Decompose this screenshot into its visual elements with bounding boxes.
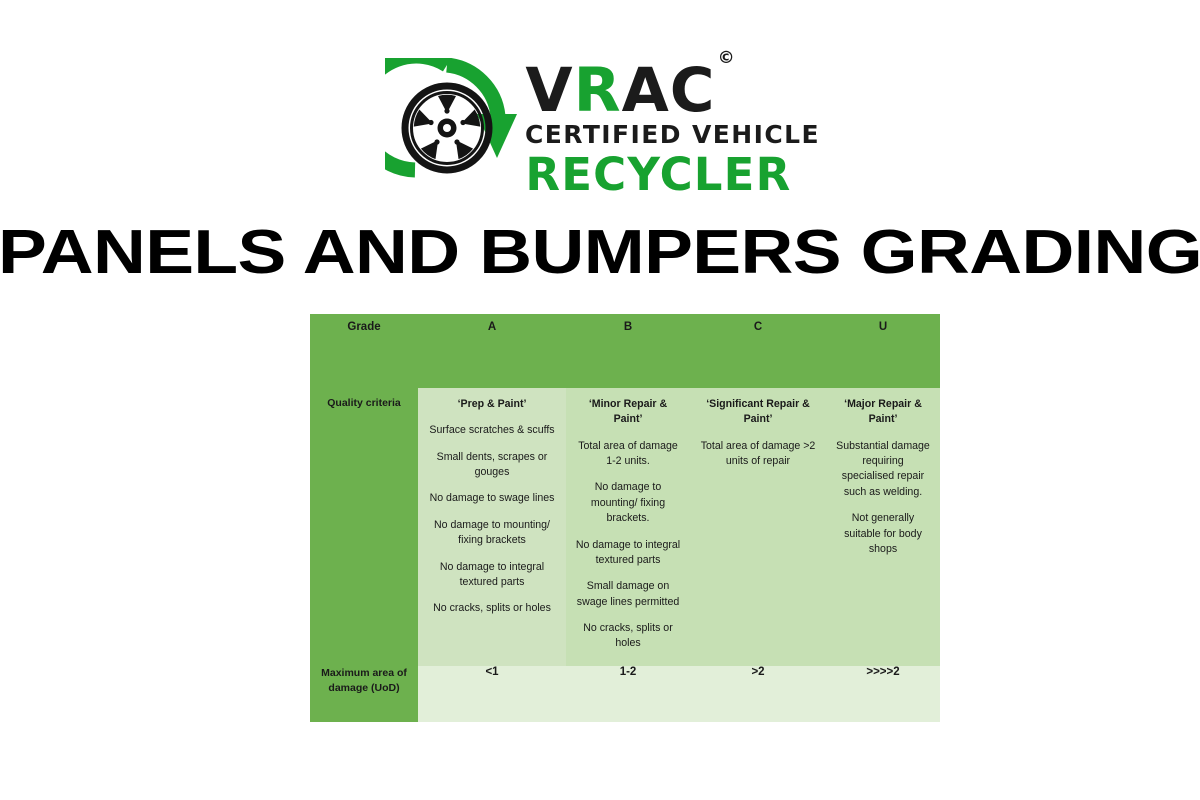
cell-line: No damage to mounting/ fixing brackets. [575, 480, 681, 526]
cell-heading-u: ‘Major Repair & Paint’ [835, 397, 931, 428]
brand-logo-inner: VRAC© CERTIFIED VEHICLE RECYCLER [385, 56, 814, 199]
cell-line: No damage to integral textured parts [427, 560, 557, 591]
header-grade-c: C [690, 314, 826, 388]
brand-wordmark-block: VRAC© CERTIFIED VEHICLE RECYCLER [525, 56, 814, 199]
cell-max-area-a: <1 [418, 666, 566, 722]
recycling-wheel-icon [385, 58, 517, 190]
cell-quality-a: ‘Prep & Paint’ Surface scratches & scuff… [418, 388, 566, 666]
header-grade-label: Grade [310, 314, 418, 388]
grading-table: Grade A B C U Quality criteria ‘Prep & P… [310, 314, 940, 722]
brand-name: VRAC© [525, 62, 732, 119]
brand-letter-r: R [574, 55, 622, 126]
cell-line: Small dents, scrapes or gouges [427, 450, 557, 481]
cell-max-area-b: 1-2 [566, 666, 690, 722]
copyright-icon: © [718, 48, 735, 68]
page-title: PANELS AND BUMPERS GRADING [0, 222, 1200, 284]
brand-logo: VRAC© CERTIFIED VEHICLE RECYCLER [0, 52, 1200, 202]
cell-line: No damage to mounting/ fixing brackets [427, 518, 557, 549]
brand-letters-ac: AC [622, 55, 716, 126]
cell-max-area-c: >2 [690, 666, 826, 722]
cell-max-area-u: >>>>2 [826, 666, 940, 722]
header-grade-u: U [826, 314, 940, 388]
cell-quality-u: ‘Major Repair & Paint’ Substantial damag… [826, 388, 940, 666]
header-grade-b: B [566, 314, 690, 388]
cell-line: Not generally suitable for body shops [835, 511, 931, 557]
quality-criteria-row: Quality criteria ‘Prep & Paint’ Surface … [310, 388, 940, 666]
cell-heading-b: ‘Minor Repair & Paint’ [575, 397, 681, 428]
cell-line: No cracks, splits or holes [427, 601, 557, 616]
cell-heading-c: ‘Significant Repair & Paint’ [699, 397, 817, 428]
cell-line: Small damage on swage lines permitted [575, 579, 681, 610]
header-grade-a: A [418, 314, 566, 388]
cell-line: No damage to swage lines [427, 491, 557, 506]
row-label-max-area: Maximum area of damage (UoD) [310, 666, 418, 722]
table-header-row: Grade A B C U [310, 314, 940, 388]
cell-line: No cracks, splits or holes [575, 621, 681, 652]
max-area-row: Maximum area of damage (UoD) <1 1-2 >2 >… [310, 666, 940, 722]
cell-line: Total area of damage 1-2 units. [575, 439, 681, 470]
brand-wordmark: RECYCLER [525, 151, 791, 198]
brand-tagline: CERTIFIED VEHICLE [525, 120, 820, 149]
cell-line: Substantial damage requiring specialised… [835, 439, 931, 500]
cell-line: Total area of damage >2 units of repair [699, 439, 817, 470]
brand-letter-v: V [525, 55, 573, 126]
cell-quality-c: ‘Significant Repair & Paint’ Total area … [690, 388, 826, 666]
cell-quality-b: ‘Minor Repair & Paint’ Total area of dam… [566, 388, 690, 666]
cell-heading-a: ‘Prep & Paint’ [427, 397, 557, 412]
cell-line: No damage to integral textured parts [575, 538, 681, 569]
cell-line: Surface scratches & scuffs [427, 423, 557, 438]
row-label-quality-criteria: Quality criteria [310, 388, 418, 666]
